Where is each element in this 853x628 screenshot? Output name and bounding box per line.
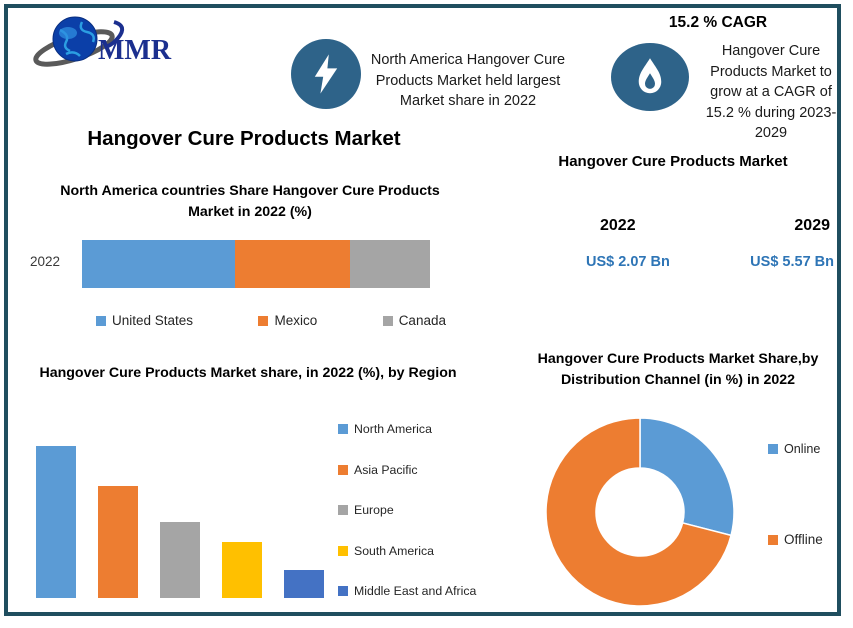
- legend-label: United States: [112, 313, 193, 328]
- mmr-logo: MMR: [30, 14, 180, 68]
- cagr-badge-text: Hangover Cure Products Market to grow at…: [698, 41, 844, 144]
- stacked-bar: [82, 240, 430, 288]
- infographic-frame: MMR North America Hangover Cure Products…: [4, 4, 841, 616]
- legend-label: Europe: [354, 503, 394, 517]
- market-value-years: 2022 2029: [600, 217, 830, 235]
- legend-swatch-icon: [338, 586, 348, 596]
- flame-badge: [611, 43, 689, 111]
- distribution-channel-donut: [546, 418, 734, 606]
- legend-swatch-icon: [768, 535, 778, 545]
- brand-name: MMR: [98, 35, 172, 66]
- legend-swatch-icon: [258, 316, 268, 326]
- region-bar: [36, 446, 76, 598]
- stacked-bar-category-label: 2022: [30, 254, 60, 269]
- region-legend-item[interactable]: Europe: [338, 503, 518, 517]
- stacked-bar-legend: United StatesMexicoCanada: [96, 313, 446, 328]
- globe-logo-icon: MMR: [30, 14, 180, 68]
- lightning-bolt-icon: [309, 53, 343, 95]
- stacked-bar-segment: [235, 240, 350, 288]
- legend-swatch-icon: [338, 465, 348, 475]
- page-title: Hangover Cure Products Market: [48, 127, 440, 151]
- legend-swatch-icon: [338, 424, 348, 434]
- region-bar: [284, 570, 324, 598]
- region-legend-item[interactable]: Asia Pacific: [338, 463, 518, 477]
- lightning-bolt-badge: [291, 39, 361, 109]
- donut-chart-title: Hangover Cure Products Market Share,by D…: [528, 349, 828, 392]
- region-bar-legend: North AmericaAsia PacificEuropeSouth Ame…: [338, 422, 518, 625]
- donut-slice: [640, 418, 734, 535]
- legend-label: Online: [784, 442, 820, 456]
- donut-legend-item-offline[interactable]: Offline: [768, 532, 823, 547]
- year-end-label: 2029: [794, 217, 830, 235]
- region-bar: [160, 522, 200, 598]
- legend-swatch-icon: [338, 505, 348, 515]
- legend-swatch-icon: [96, 316, 106, 326]
- stacked-legend-item[interactable]: Canada: [383, 313, 446, 328]
- region-bar: [98, 486, 138, 598]
- legend-label: South America: [354, 544, 434, 558]
- stacked-bar-segment: [350, 240, 430, 288]
- year-start-label: 2022: [600, 217, 636, 235]
- region-bar-chart: [28, 418, 338, 598]
- legend-label: Canada: [399, 313, 446, 328]
- region-chart-title: Hangover Cure Products Market share, in …: [38, 363, 458, 384]
- donut-legend-online: Online: [768, 442, 820, 456]
- market-value-title: Hangover Cure Products Market: [513, 153, 833, 170]
- value-start: US$ 2.07 Bn: [586, 254, 670, 270]
- donut-legend-item-online[interactable]: Online: [768, 442, 820, 456]
- legend-label: North America: [354, 422, 432, 436]
- legend-swatch-icon: [338, 546, 348, 556]
- bolt-badge-text: North America Hangover Cure Products Mar…: [368, 50, 568, 112]
- stacked-legend-item[interactable]: United States: [96, 313, 193, 328]
- region-bar: [222, 542, 262, 598]
- legend-label: Middle East and Africa: [354, 584, 476, 598]
- region-legend-item[interactable]: South America: [338, 544, 518, 558]
- flame-icon: [636, 57, 664, 97]
- legend-label: Asia Pacific: [354, 463, 418, 477]
- legend-swatch-icon: [383, 316, 393, 326]
- market-value-amounts: US$ 2.07 Bn US$ 5.57 Bn: [586, 254, 834, 270]
- region-legend-item[interactable]: North America: [338, 422, 518, 436]
- legend-label: Mexico: [274, 313, 317, 328]
- legend-swatch-icon: [768, 444, 778, 454]
- stacked-legend-item[interactable]: Mexico: [258, 313, 317, 328]
- legend-label: Offline: [784, 532, 823, 547]
- donut-legend-offline: Offline: [768, 532, 823, 547]
- value-end: US$ 5.57 Bn: [750, 254, 834, 270]
- stacked-bar-segment: [82, 240, 235, 288]
- region-legend-item[interactable]: Middle East and Africa: [338, 584, 518, 598]
- cagr-headline: 15.2 % CAGR: [628, 14, 808, 32]
- north-america-chart-title: North America countries Share Hangover C…: [50, 181, 450, 224]
